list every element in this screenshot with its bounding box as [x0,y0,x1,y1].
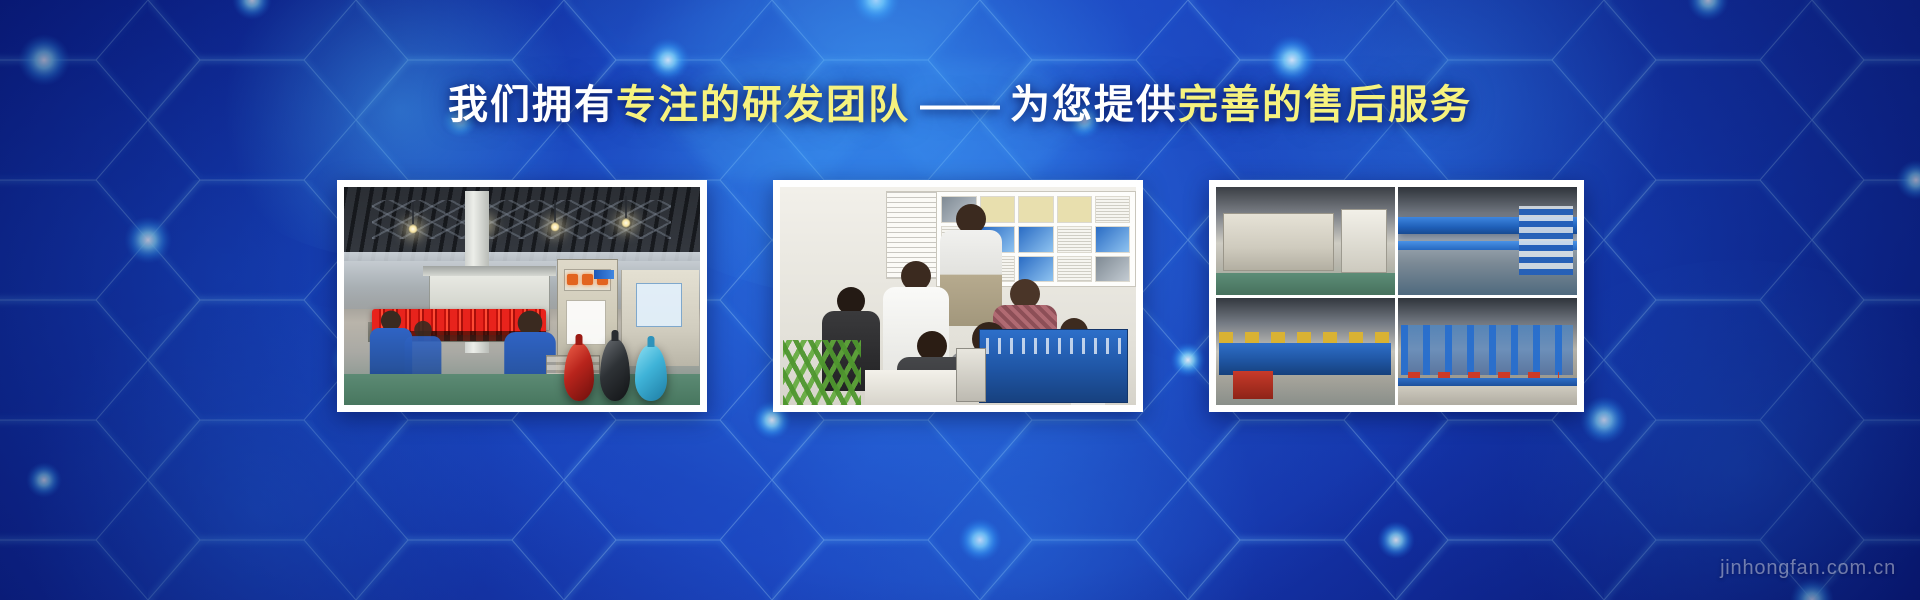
photo-gallery [0,180,1920,416]
photo-production-line [344,187,700,405]
composite-quadrant-blue-duct [1398,187,1577,295]
photo-frame-rd-meeting[interactable] [773,180,1143,412]
glass-vase-black [600,339,630,401]
cabinet-document [566,300,606,345]
ceiling-lamp-icon [408,224,418,234]
photo-frame-production-line[interactable] [337,180,707,412]
banner-stage: 我们拥有专注的研发团队——为您提供完善的售后服务 [0,0,1920,600]
cabinet-label [594,270,614,279]
headline-dash: —— [910,83,1010,127]
photo-rd-team-meeting [780,187,1136,405]
headline-segment-1: 我们拥有 [448,83,616,127]
headline-segment-2: 专注的研发团队 [616,83,910,127]
headline-segment-4: 完善的售后服务 [1178,83,1472,127]
composite-quadrant-oven-line [1216,187,1395,295]
photo-workshop-composite [1216,187,1577,405]
composite-quadrant-conveyor [1216,298,1395,406]
blue-machine-model [979,329,1129,403]
composite-quadrant-hanging-rack [1398,298,1577,406]
oven-notice [636,283,682,327]
ceiling-lamp-icon [550,222,560,232]
potted-plant [783,340,861,405]
headline-segment-3: 为您提供 [1010,83,1178,127]
site-watermark: jinhongfan.com.cn [1720,557,1896,580]
photo-frame-workshop-composite[interactable] [1209,180,1584,412]
banner-headline: 我们拥有专注的研发团队——为您提供完善的售后服务 [0,78,1920,132]
ceiling-lamp-icon [621,218,631,228]
